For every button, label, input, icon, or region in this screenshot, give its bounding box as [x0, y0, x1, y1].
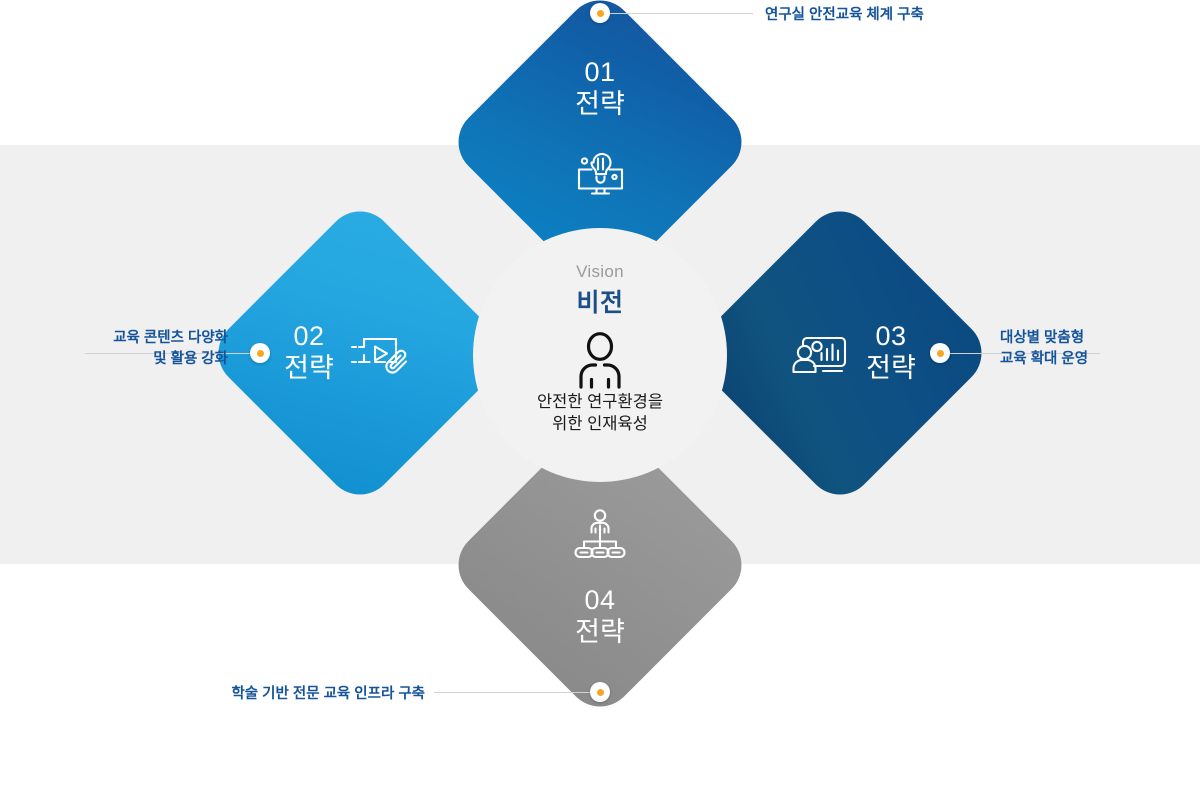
connector-dot-03[interactable]	[930, 343, 950, 363]
vision-circle: Vision 비전 안전한 연구환경을 위한 인재육성	[473, 228, 727, 482]
connector-label-04-text: 학술 기반 전문 교육 인프라 구축	[0, 684, 425, 705]
vision-description-line2: 위한 인재육성	[537, 413, 663, 435]
monitor-lightbulb-icon	[570, 143, 630, 201]
presentation-chart-person-icon	[790, 324, 852, 382]
connector-label-03-line2: 교육 확대 운영	[1000, 349, 1088, 370]
connector-dot-02-center	[257, 350, 264, 357]
strategy-01-label: 전략	[575, 89, 625, 121]
strategy-04-number: 04	[584, 585, 615, 617]
connector-label-03: 대상별 맞춤형 교육 확대 운영	[1000, 328, 1088, 369]
strategy-03-label: 전략	[866, 353, 916, 385]
connector-dot-04-center	[597, 689, 604, 696]
strategy-02-label: 전략	[284, 353, 334, 385]
connector-label-03-line1: 대상별 맞춤형	[1000, 328, 1088, 349]
vision-en-label: Vision	[576, 262, 624, 282]
vision-ko-label: 비전	[576, 283, 623, 319]
video-attachment-icon	[348, 324, 410, 382]
connector-label-04: 학술 기반 전문 교육 인프라 구축	[0, 684, 425, 705]
vision-description-line1: 안전한 연구환경을	[537, 391, 663, 413]
connector-dot-01[interactable]	[590, 3, 610, 23]
connector-label-01-text: 연구실 안전교육 체계 구축	[765, 5, 924, 26]
connector-label-02: 교육 콘텐츠 다양화 및 활용 강화	[0, 328, 228, 369]
diagram-stage: 01 전략	[0, 0, 1200, 708]
strategy-02-content: 02 전략	[250, 243, 470, 463]
connector-label-02-line2: 및 활용 강화	[0, 349, 228, 370]
connector-label-02-line1: 교육 콘텐츠 다양화	[0, 328, 228, 349]
connector-dot-01-center	[597, 10, 604, 17]
strategy-03-content: 03 전략	[730, 243, 950, 463]
strategy-03-number: 03	[875, 321, 906, 353]
connector-dot-03-center	[937, 350, 944, 357]
connector-label-01: 연구실 안전교육 체계 구축	[765, 5, 924, 26]
person-icon	[573, 331, 627, 389]
vision-description: 안전한 연구환경을 위한 인재육성	[537, 391, 663, 436]
strategy-02-number: 02	[293, 321, 324, 353]
connector-line-01	[608, 13, 753, 14]
strategy-04-content: 04 전략	[490, 455, 710, 675]
connector-line-04	[434, 692, 592, 693]
connector-dot-02[interactable]	[250, 343, 270, 363]
strategy-01-content: 01 전략	[490, 32, 710, 252]
connector-dot-04[interactable]	[590, 682, 610, 702]
strategy-04-label: 전략	[575, 617, 625, 649]
strategy-01-number: 01	[584, 57, 615, 89]
org-chart-person-icon	[571, 507, 629, 563]
